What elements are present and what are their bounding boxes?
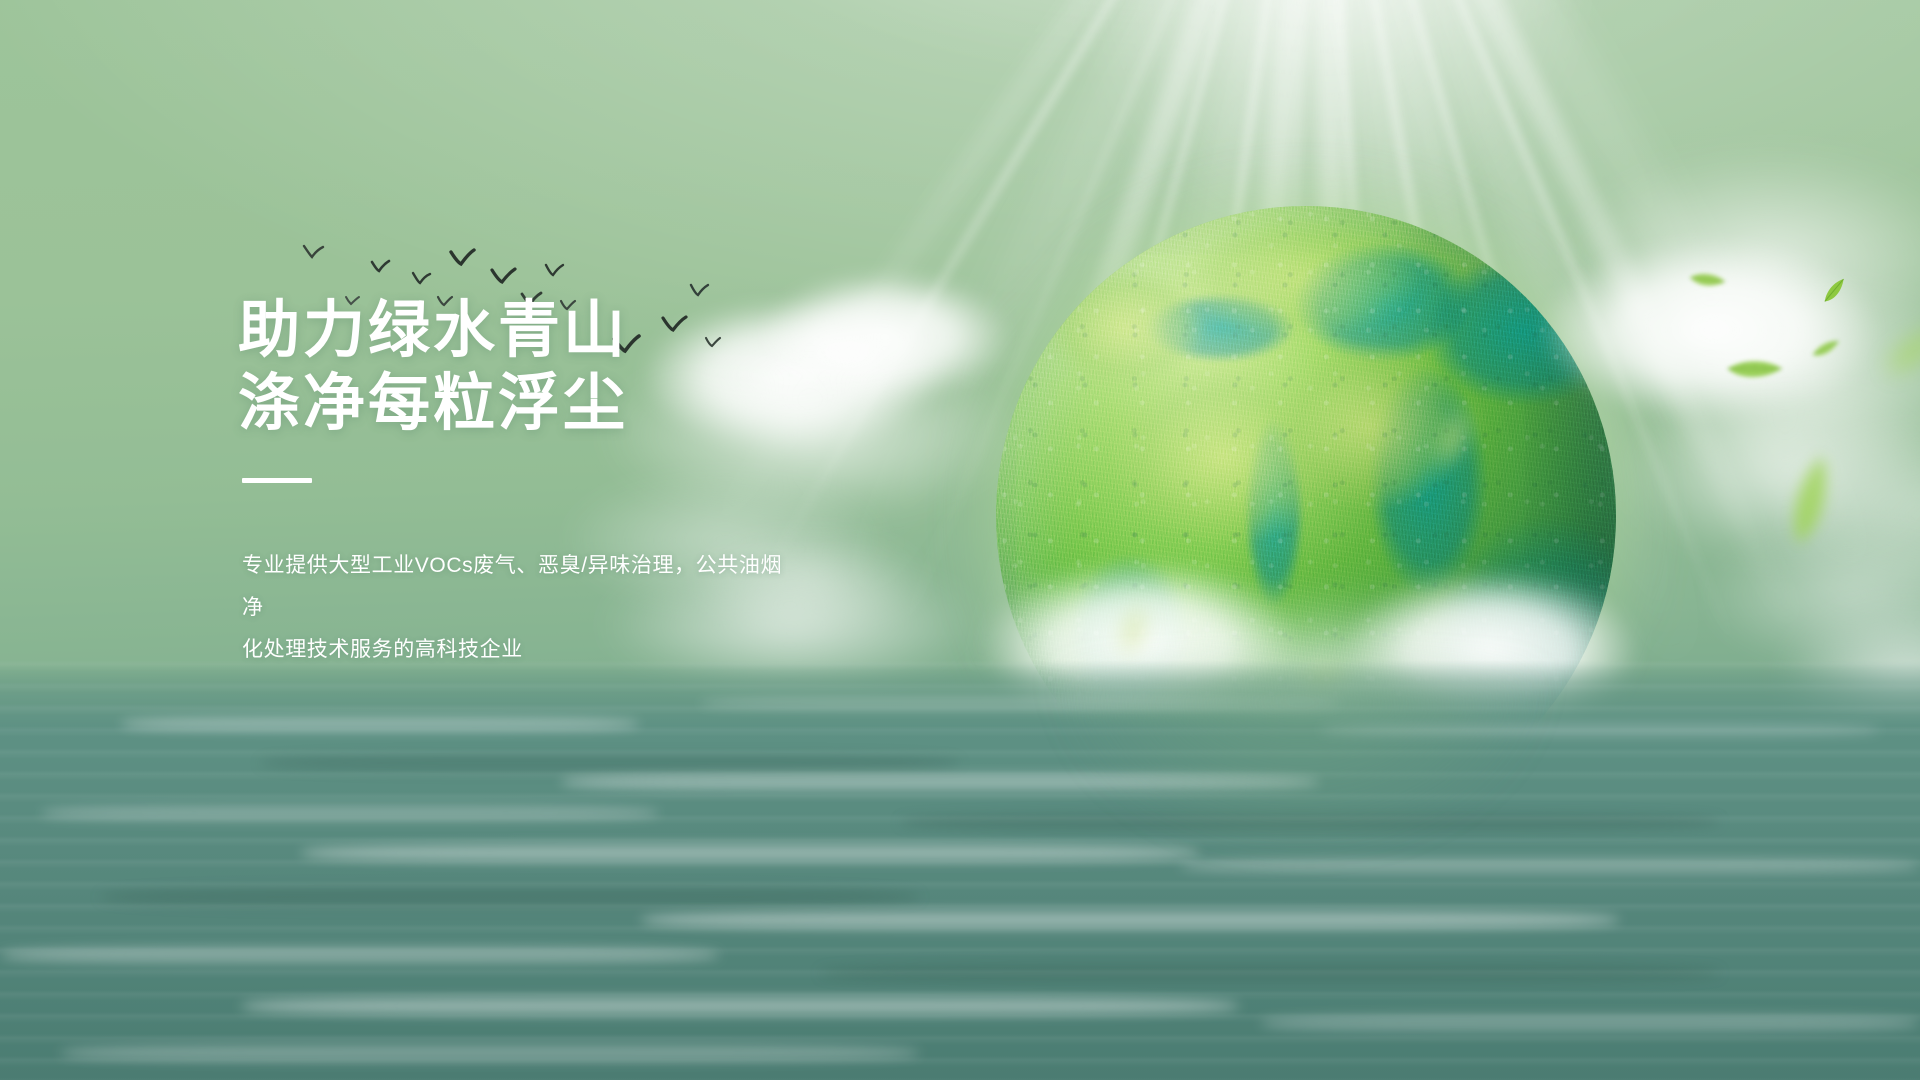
bird-8 xyxy=(545,264,565,277)
title-divider xyxy=(242,478,312,483)
description-line-1: 专业提供大型工业VOCs废气、恶臭/异味治理，公共油烟净 xyxy=(242,545,802,629)
bird-3 xyxy=(412,272,432,285)
leaf-5 xyxy=(1771,451,1857,552)
bird-1 xyxy=(303,245,325,259)
headline-line-1: 助力绿水青山 xyxy=(238,294,938,367)
leaf-4 xyxy=(1724,351,1785,391)
cloud-right-lower xyxy=(1620,380,1920,560)
hero-description: 专业提供大型工业VOCs废气、恶臭/异味治理，公共油烟净 化处理技术服务的高科技… xyxy=(242,545,802,671)
water-surface xyxy=(0,660,1920,1080)
bird-5 xyxy=(450,249,476,266)
leaf-2 xyxy=(1810,339,1842,360)
hero-banner: 助力绿水青山 涤净每粒浮尘 专业提供大型工业VOCs废气、恶臭/异味治理，公共油… xyxy=(0,0,1920,1080)
page-title: 助力绿水青山 涤净每粒浮尘 xyxy=(238,294,938,440)
leaf-3 xyxy=(1818,277,1851,306)
leaf-1 xyxy=(1686,266,1728,297)
headline-line-2: 涤净每粒浮尘 xyxy=(238,367,938,440)
bird-2 xyxy=(371,260,391,273)
hero-copy: 助力绿水青山 涤净每粒浮尘 专业提供大型工业VOCs废气、恶臭/异味治理，公共油… xyxy=(238,294,938,671)
bird-6 xyxy=(491,268,517,284)
description-line-2: 化处理技术服务的高科技企业 xyxy=(242,629,802,671)
leaf-6 xyxy=(1876,325,1920,381)
